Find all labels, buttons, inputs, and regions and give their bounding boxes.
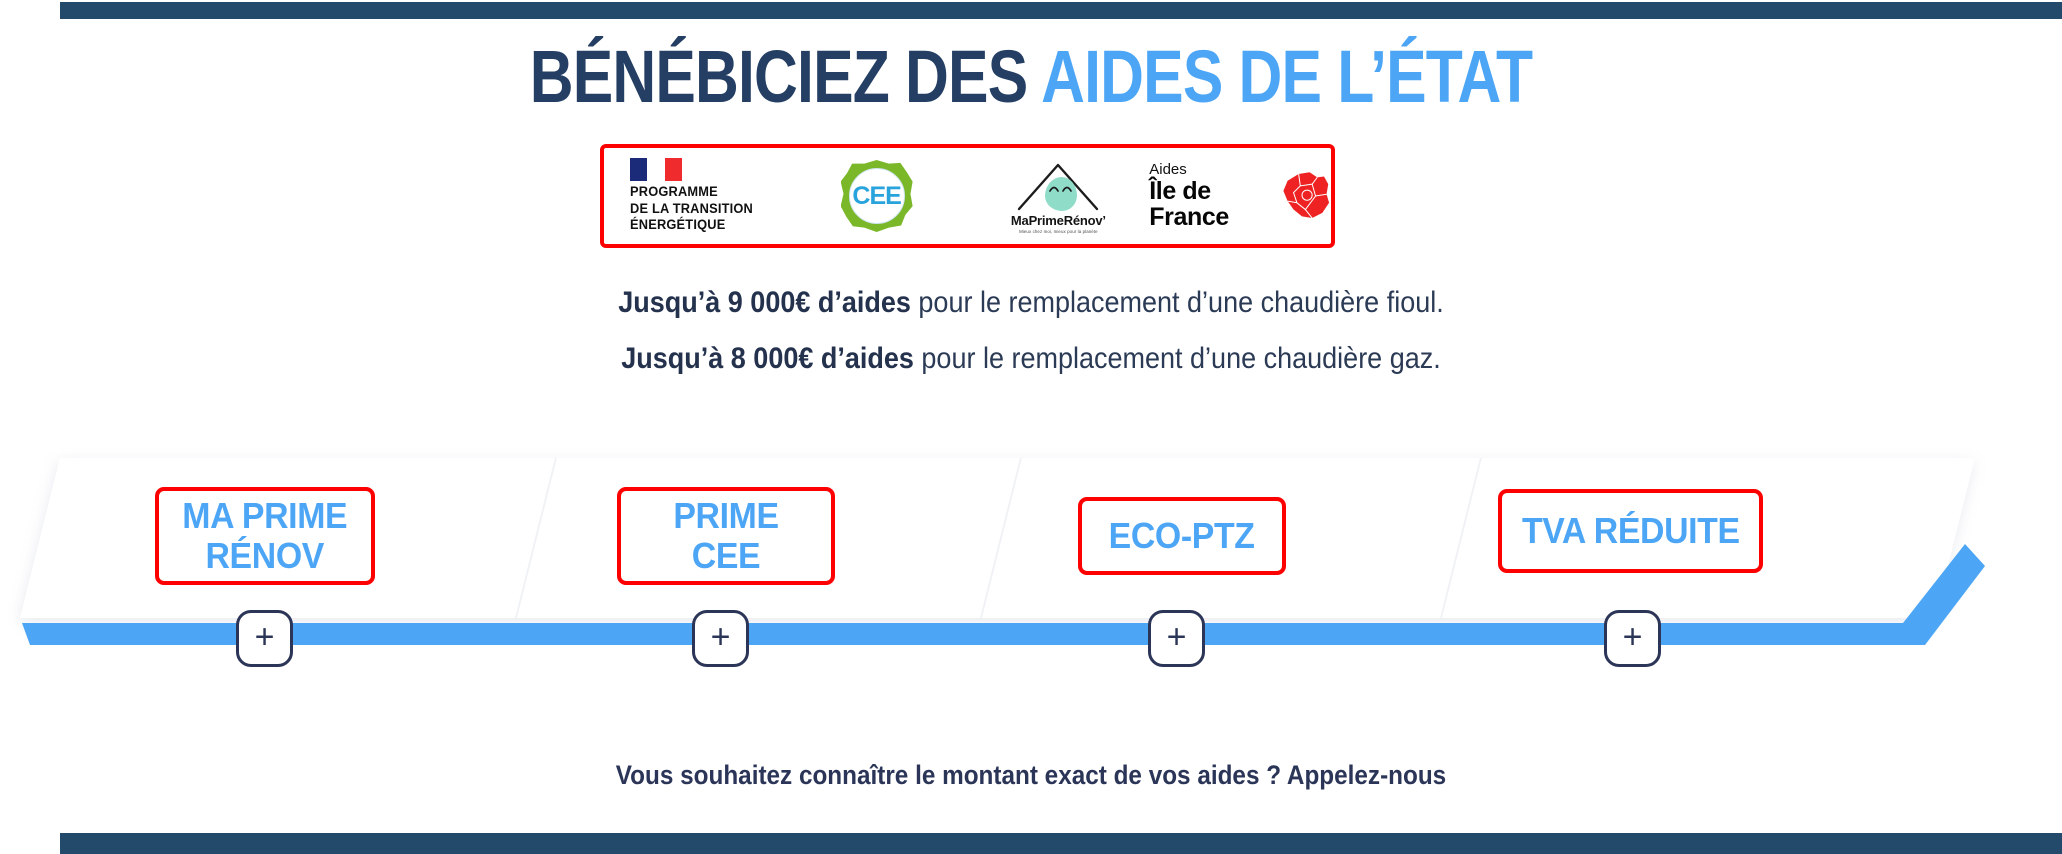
french-flag-icon [630, 158, 682, 181]
pte-line-2: DE LA TRANSITION [630, 201, 753, 217]
page-title: BÉNÉBICIEZ DES AIDES DE L’ÉTAT [186, 40, 1877, 114]
benefit-rest-gaz: pour le remplacement d’une chaudière gaz… [914, 342, 1441, 375]
pte-line-1: PROGRAMME [630, 184, 753, 200]
aid-card-tva-reduite[interactable]: TVA RÉDUITE [1498, 489, 1763, 573]
logo-cee: CEE [786, 148, 968, 244]
aid-card-2-line-2: CEE [692, 535, 760, 576]
benefit-amount-fioul: Jusqu’à 9 000€ d’aides [618, 286, 911, 319]
cee-label: CEE [852, 182, 900, 211]
benefit-line-gaz: Jusqu’à 8 000€ d’aides pour le remplacem… [103, 342, 1959, 376]
aid-card-1-line-1: MA PRIME [183, 495, 348, 536]
plus-icon: + [711, 620, 731, 654]
maprimerenov-tagline: Mieux chez moi, mieux pour la planète [1019, 229, 1098, 234]
logo-maprimerenov: MaPrimeRénov’ Mieux chez moi, mieux pour… [968, 148, 1150, 244]
page-title-light: AIDES DE L’ÉTAT [1041, 35, 1532, 118]
plus-icon: + [1167, 620, 1187, 654]
maprimerenov-label: MaPrimeRénov’ [1011, 213, 1106, 228]
ile-de-france-map-icon [1280, 168, 1331, 224]
aid-card-4-line-1: TVA RÉDUITE [1522, 511, 1740, 551]
benefit-amount-gaz: Jusqu’à 8 000€ d’aides [621, 342, 914, 375]
top-divider-bar [60, 2, 2062, 19]
plus-icon: + [1623, 620, 1643, 654]
aid-card-1-line-2: RÉNOV [206, 535, 324, 576]
smiling-eyes-icon [1049, 184, 1073, 193]
benefit-rest-fioul: pour le remplacement d’une chaudière fio… [911, 286, 1444, 319]
cee-inner-disc: CEE [849, 168, 905, 224]
aid-card-2-line-1: PRIME [673, 495, 778, 536]
call-to-action-text: Vous souhaitez connaître le montant exac… [103, 760, 1959, 791]
idf-line-2: Île de France [1149, 178, 1274, 231]
idf-line-1: Aides [1149, 162, 1274, 178]
pte-line-3: ÉNERGÉTIQUE [630, 217, 753, 233]
page-title-dark: BÉNÉBICIEZ DES [530, 35, 1041, 118]
bottom-divider-bar [60, 833, 2062, 854]
mascot-blob-icon [1045, 177, 1077, 211]
aid-expand-button-ma-prime-renov[interactable]: + [236, 610, 293, 667]
benefit-line-fioul: Jusqu’à 9 000€ d’aides pour le remplacem… [103, 286, 1959, 320]
aid-card-prime-cee[interactable]: PRIME CEE [617, 487, 835, 585]
logo-programme-transition-energetique: PROGRAMME DE LA TRANSITION ÉNERGÉTIQUE [604, 148, 786, 244]
aid-expand-button-tva-reduite[interactable]: + [1604, 610, 1661, 667]
aids-band: MA PRIME RÉNOV + PRIME CEE + ECO-PTZ + T… [0, 440, 2062, 670]
aid-card-ma-prime-renov[interactable]: MA PRIME RÉNOV [155, 487, 375, 585]
aid-card-eco-ptz[interactable]: ECO-PTZ [1078, 497, 1286, 575]
logo-aides-ile-de-france: Aides Île de France [1149, 148, 1331, 244]
partner-logos-strip: PROGRAMME DE LA TRANSITION ÉNERGÉTIQUE C… [600, 144, 1335, 248]
aid-card-3-line-1: ECO-PTZ [1109, 516, 1255, 556]
plus-icon: + [255, 620, 275, 654]
aid-expand-button-eco-ptz[interactable]: + [1148, 610, 1205, 667]
aid-expand-button-prime-cee[interactable]: + [692, 610, 749, 667]
